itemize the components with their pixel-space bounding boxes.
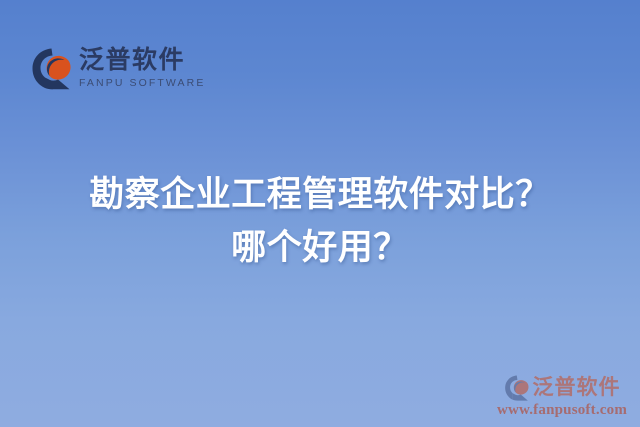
- fanpu-swoosh-logo-icon: [504, 374, 529, 401]
- watermark: 泛普软件 www.fanpusoft.com: [492, 374, 632, 418]
- header-logo: 泛普软件 FANPU SOFTWARE: [31, 46, 205, 90]
- fanpu-swoosh-logo-icon: [31, 46, 71, 90]
- watermark-url: www.fanpusoft.com: [492, 403, 632, 418]
- brand-tagline: FANPU SOFTWARE: [79, 78, 205, 89]
- promo-banner: 泛普软件 FANPU SOFTWARE 勘察企业工程管理软件对比？ 哪个好用？ …: [0, 0, 640, 427]
- watermark-brand-name: 泛普软件: [533, 377, 621, 398]
- header-logo-text: 泛普软件 FANPU SOFTWARE: [79, 48, 205, 89]
- page-title-line-1: 勘察企业工程管理软件对比？: [0, 168, 640, 221]
- page-title-line-2: 哪个好用？: [0, 221, 640, 274]
- watermark-logo: 泛普软件: [492, 374, 632, 401]
- brand-name: 泛普软件: [79, 48, 205, 73]
- page-title: 勘察企业工程管理软件对比？ 哪个好用？: [0, 168, 640, 274]
